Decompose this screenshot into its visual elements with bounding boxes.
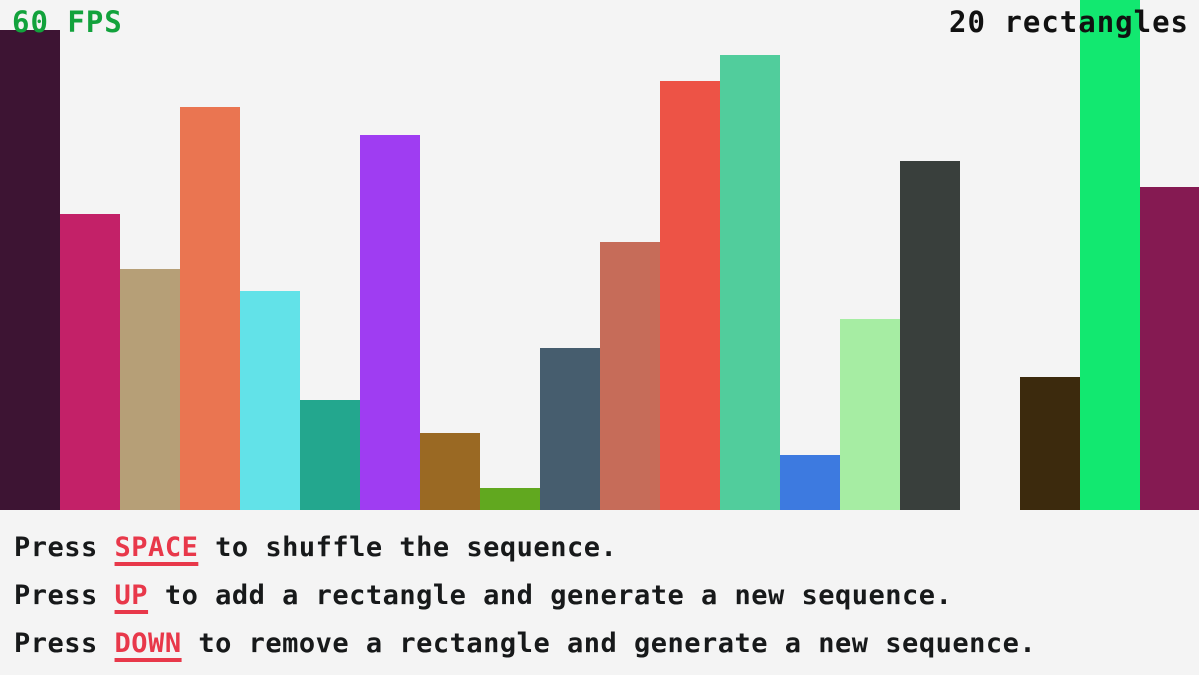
- app-window: 60 FPS 20 rectangles Press SPACE to shuf…: [0, 0, 1199, 675]
- instruction-prefix: Press: [14, 628, 115, 659]
- bar-rectangle: [540, 348, 600, 510]
- bar-rectangle: [780, 455, 840, 510]
- instruction-suffix: to remove a rectangle and generate a new…: [182, 628, 1037, 659]
- bar-rectangle: [1080, 0, 1140, 510]
- instruction-line: Press UP to add a rectangle and generate…: [0, 572, 1199, 620]
- instruction-line: Press DOWN to remove a rectangle and gen…: [0, 620, 1199, 668]
- bar-rectangle: [1020, 377, 1080, 510]
- bar-rectangle: [900, 161, 960, 510]
- key-hint-space[interactable]: SPACE: [115, 532, 199, 563]
- instruction-suffix: to shuffle the sequence.: [198, 532, 617, 563]
- bar-rectangle: [360, 135, 420, 510]
- instruction-suffix: to add a rectangle and generate a new se…: [148, 580, 952, 611]
- instruction-line: Press SPACE to shuffle the sequence.: [0, 524, 1199, 572]
- bar-rectangle: [0, 30, 60, 510]
- bar-rectangle: [660, 81, 720, 510]
- key-hint-up[interactable]: UP: [115, 580, 149, 611]
- instructions-panel: Press SPACE to shuffle the sequence.Pres…: [0, 510, 1199, 675]
- instruction-prefix: Press: [14, 532, 115, 563]
- bar-rectangle: [60, 214, 120, 510]
- bar-rectangle: [840, 319, 900, 510]
- bar-rectangle: [180, 107, 240, 510]
- rectangle-chart: [0, 0, 1199, 510]
- bar-rectangle: [300, 400, 360, 510]
- bar-rectangle: [1140, 187, 1199, 510]
- instruction-prefix: Press: [14, 580, 115, 611]
- bar-rectangle: [420, 433, 480, 510]
- bar-rectangle: [720, 55, 780, 510]
- bar-rectangle: [240, 291, 300, 510]
- bar-rectangle: [600, 242, 660, 510]
- bar-rectangle: [120, 269, 180, 510]
- bar-rectangle: [480, 488, 540, 510]
- fps-counter: 60 FPS: [12, 8, 123, 37]
- rectangle-count-label: 20 rectangles: [949, 8, 1189, 37]
- key-hint-down[interactable]: DOWN: [115, 628, 182, 659]
